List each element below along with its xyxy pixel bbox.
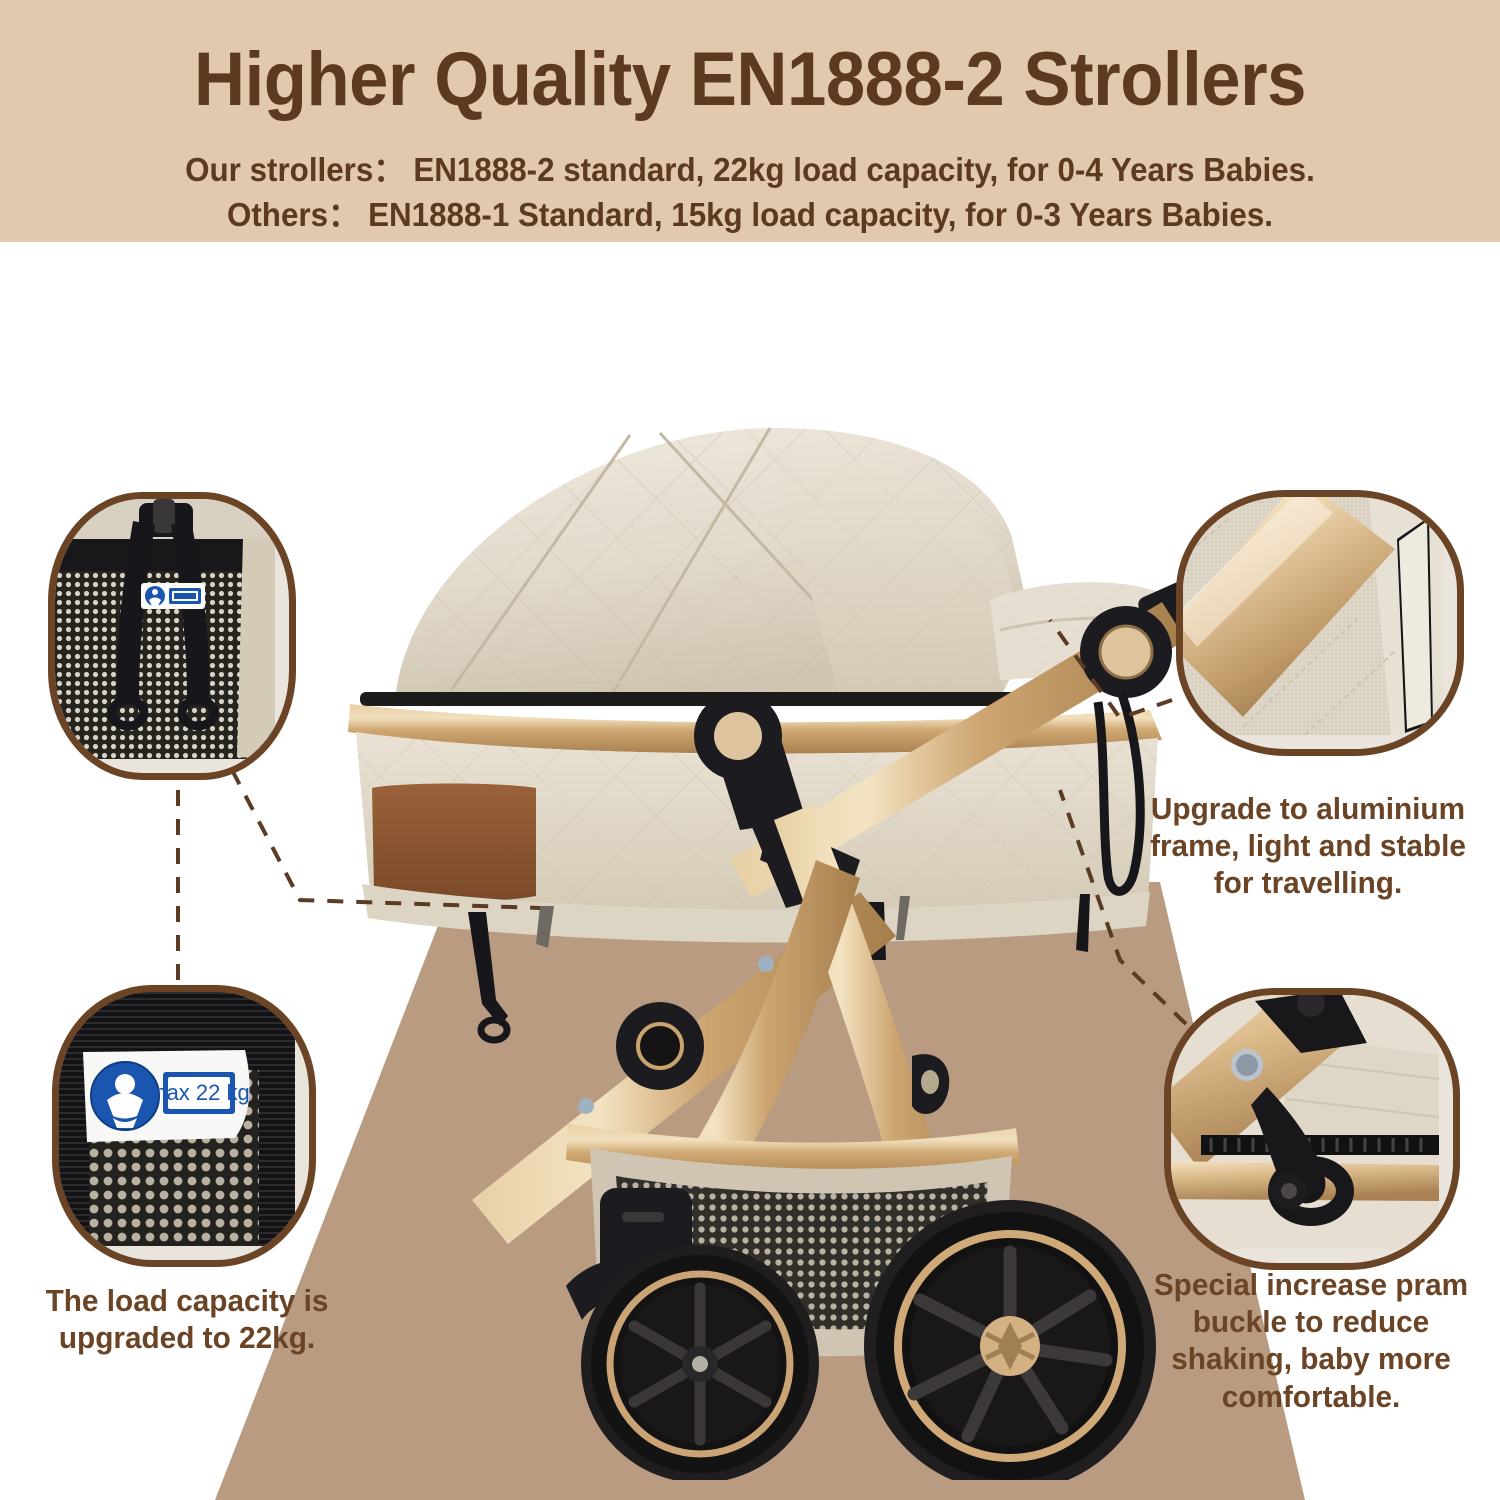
inset-load-capacity-label: max 22 kg [52, 985, 316, 1267]
max-load-sticker: max 22 kg [83, 1050, 250, 1142]
leather-patch [372, 784, 536, 902]
caption-pram-buckle: Special increase pram buckle to reduce s… [1139, 1266, 1483, 1415]
caption-load-capacity: The load capacity is upgraded to 22kg. [27, 1282, 348, 1356]
product-image-stroller [300, 300, 1250, 1480]
inset-aluminium-frame-tube [1176, 490, 1464, 756]
caption-aluminium-frame: Upgrade to aluminium frame, light and st… [1143, 790, 1473, 902]
inset-pram-buckle [1164, 988, 1460, 1270]
header-subtitle-our-strollers: Our strollers： EN1888-2 standard, 22kg l… [38, 143, 1463, 191]
max-load-text: max 22 kg [148, 1080, 250, 1105]
inset-storage-basket-strap [48, 492, 296, 780]
header-subtitle-others: Others： EN1888-1 Standard, 15kg load cap… [38, 188, 1463, 236]
header-banner: Higher Quality EN1888-2 Strollers Our st… [0, 0, 1500, 242]
rear-wheel [870, 1206, 1150, 1480]
page-title: Higher Quality EN1888-2 Strollers [53, 36, 1448, 123]
stroller-canopy [395, 428, 1030, 700]
max-load-label-small [141, 583, 205, 609]
infographic-page: Higher Quality EN1888-2 Strollers Our st… [0, 0, 1500, 1500]
